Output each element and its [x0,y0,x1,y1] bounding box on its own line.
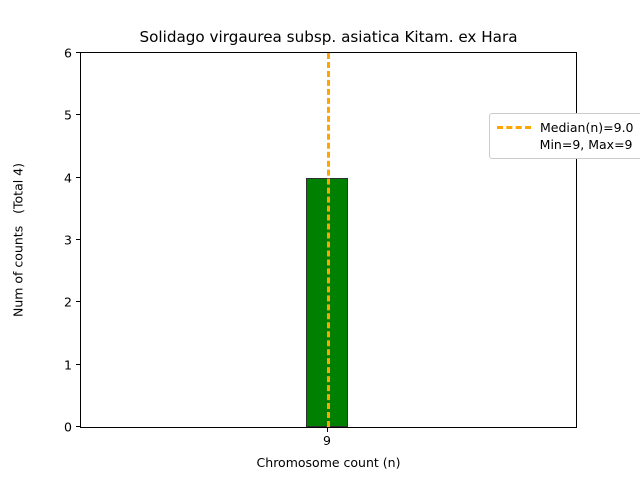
y-axis-tick-label: 4 [64,171,72,184]
y-axis-tick-label: 2 [64,296,72,309]
y-axis-tick-label: 6 [64,47,72,60]
chart-legend: Median(n)=9.0 Min=9, Max=9 [489,113,640,159]
y-axis-label: Num of counts (Total 4) [11,163,26,317]
plot-area: 0 1 2 3 4 5 6 9 [80,52,577,428]
plot-inner [81,53,576,427]
y-axis-tick-label: 1 [64,358,72,371]
dashed-line-icon [497,126,531,129]
chart-title: Solidago virgaurea subsp. asiatica Kitam… [80,28,577,46]
y-axis-tick-label: 5 [64,109,72,122]
legend-entry-minmax: Min=9, Max=9 [497,136,634,153]
y-axis-tick-label: 3 [64,234,72,247]
y-axis-tick-label: 0 [64,421,72,434]
legend-label-minmax: Min=9, Max=9 [540,136,633,153]
legend-entry-median: Median(n)=9.0 [497,119,634,136]
x-axis-tick-9 [327,427,328,432]
x-axis-label: Chromosome count (n) [80,455,577,470]
legend-label-median: Median(n)=9.0 [540,119,634,136]
median-line [327,53,330,427]
x-axis-tick-label: 9 [323,434,331,448]
chart-figure: Solidago virgaurea subsp. asiatica Kitam… [0,0,640,480]
